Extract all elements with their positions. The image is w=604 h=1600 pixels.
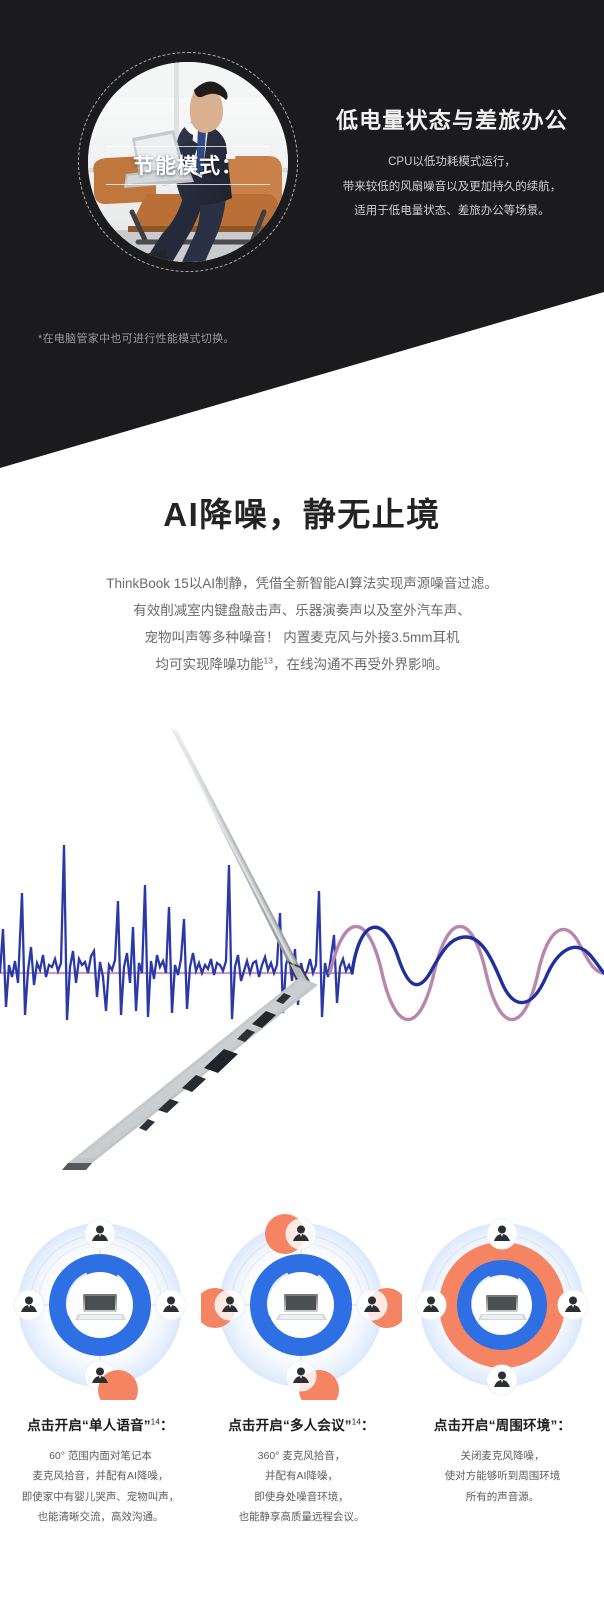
- power-saving-photo: 节能模式：: [88, 62, 288, 262]
- heading-colon: ：: [361, 1418, 375, 1433]
- feature-ambient-environment[interactable]: 点击开启“周围环境”： 关闭麦克风降噪， 使对方能够听到周围环境 所有的声音源。: [402, 1210, 603, 1507]
- heading-colon: ：: [557, 1418, 571, 1433]
- heading-text: 点击开启“周围环境”: [434, 1418, 558, 1433]
- hero-sub-line: CPU以低功耗模式运行，: [300, 150, 604, 174]
- feature-single-voice[interactable]: 点击开启“单人语音”14： 60° 范围内面对笔记本 麦克风拾音，并配有AI降噪…: [0, 1210, 201, 1528]
- person-node-east: [156, 1290, 186, 1320]
- ai-body-post: ，在线沟通不再受外界影响。: [273, 657, 449, 672]
- ai-body-line: 宠物叫声等多种噪音！ 内置麦克风与外接3.5mm耳机: [0, 624, 604, 651]
- heading-colon: ：: [160, 1418, 174, 1433]
- feature-desc-multi-conference: 360° 麦克风拾音， 并配有AI降噪， 即使身处噪音环境， 也能静享高质量远程…: [201, 1446, 402, 1528]
- photo-rule-top: [106, 146, 270, 147]
- footnote-marker-14: 14: [151, 1418, 160, 1427]
- hero-footnote: *在电脑管家中也可进行性能模式切换。: [38, 330, 235, 346]
- feature-multi-conference[interactable]: 点击开启“多人会议”14： 360° 麦克风拾音， 并配有AI降噪， 即使身处噪…: [201, 1210, 402, 1528]
- ai-section-title: AI降噪，静无止境: [0, 470, 604, 536]
- microphone-modes-section: 点击开启“单人语音”14： 60° 范围内面对笔记本 麦克风拾音，并配有AI降噪…: [0, 1210, 604, 1600]
- person-node-east: [357, 1290, 387, 1320]
- businessman-photo: 节能模式：: [88, 62, 288, 262]
- ai-body-line: ThinkBook 15以AI制静，凭借全新智能AI算法实现声源噪音过滤。: [0, 570, 604, 597]
- feature-heading-ambient-environment: 点击开启“周围环境”：: [402, 1414, 603, 1434]
- desc-line: 并配有AI降噪，: [201, 1466, 402, 1486]
- person-node-south: [286, 1361, 316, 1391]
- ai-noise-reduction-section: AI降噪，静无止境 ThinkBook 15以AI制静，凭借全新智能AI算法实现…: [0, 470, 604, 678]
- desc-line: 所有的声音源。: [402, 1487, 603, 1507]
- smooth-blue-wave: [352, 927, 604, 1002]
- person-node-west: [215, 1290, 245, 1320]
- diagram-ambient-environment: [402, 1210, 603, 1400]
- desc-line: 即使身处噪音环境，: [201, 1487, 402, 1507]
- ambient-environment-diagram-svg: [402, 1210, 603, 1400]
- hero-copy: 低电量状态与差旅办公 CPU以低功耗模式运行， 带来较低的风扇噪音以及更加持久的…: [300, 108, 604, 223]
- diagram-multi-conference: [201, 1210, 402, 1400]
- waveform-illustration: [0, 715, 604, 1185]
- desc-line: 也能静享高质量远程会议。: [201, 1507, 402, 1527]
- ai-body-pre: 均可实现降噪功能: [156, 657, 264, 672]
- ai-section-body: ThinkBook 15以AI制静，凭借全新智能AI算法实现声源噪音过滤。 有效…: [0, 570, 604, 678]
- hero-sub-line: 带来较低的风扇噪音以及更加持久的续航，: [300, 175, 604, 199]
- person-node-north: [487, 1219, 517, 1249]
- desc-line: 也能清晰交流，高效沟通。: [0, 1507, 201, 1527]
- person-node-east: [558, 1290, 588, 1320]
- footnote-marker-14: 14: [352, 1418, 361, 1427]
- diagram-single-voice: [0, 1210, 201, 1400]
- person-node-west: [14, 1290, 44, 1320]
- desc-line: 关闭麦克风降噪，: [402, 1446, 603, 1466]
- person-node-north: [85, 1219, 115, 1249]
- desc-line: 60° 范围内面对笔记本: [0, 1446, 201, 1466]
- waveform-laptop-stage: [0, 715, 604, 1185]
- feature-heading-single-voice: 点击开启“单人语音”14：: [0, 1414, 201, 1434]
- feature-desc-ambient-environment: 关闭麦克风降噪， 使对方能够听到周围环境 所有的声音源。: [402, 1446, 603, 1507]
- heading-text: 点击开启“单人语音”: [27, 1418, 151, 1433]
- desc-line: 使对方能够听到周围环境: [402, 1466, 603, 1486]
- person-node-north: [286, 1219, 316, 1249]
- multi-conference-diagram-svg: [201, 1210, 402, 1400]
- ai-body-line-footnoted: 均可实现降噪功能13，在线沟通不再受外界影响。: [0, 651, 604, 678]
- hero-panel: 节能模式： 低电量状态与差旅办公 CPU以低功耗模式运行， 带来较低的风扇噪音以…: [0, 0, 604, 470]
- power-saving-mode-label: 节能模式：: [88, 150, 288, 180]
- feature-heading-multi-conference: 点击开启“多人会议”14：: [201, 1414, 402, 1434]
- heading-text: 点击开启“多人会议”: [228, 1418, 352, 1433]
- smooth-pink-wave: [330, 927, 604, 1020]
- hero-sub-line: 适用于低电量状态、差旅办公等场景。: [300, 199, 604, 223]
- hero-title: 低电量状态与差旅办公: [300, 108, 604, 134]
- footnote-marker-13: 13: [264, 656, 273, 666]
- single-voice-diagram-svg: [0, 1210, 201, 1400]
- hero-subtitle: CPU以低功耗模式运行， 带来较低的风扇噪音以及更加持久的续航， 适用于低电量状…: [300, 150, 604, 222]
- ai-body-line: 有效削减室内键盘敲击声、乐器演奏声以及室外汽车声、: [0, 597, 604, 624]
- desc-line: 即使家中有婴儿哭声、宠物叫声，: [0, 1487, 201, 1507]
- desc-line: 麦克风拾音，并配有AI降噪，: [0, 1466, 201, 1486]
- person-node-west: [416, 1290, 446, 1320]
- photo-rule-bottom: [106, 184, 270, 185]
- person-node-south: [487, 1365, 517, 1395]
- desc-line: 360° 麦克风拾音，: [201, 1446, 402, 1466]
- feature-desc-single-voice: 60° 范围内面对笔记本 麦克风拾音，并配有AI降噪， 即使家中有婴儿哭声、宠物…: [0, 1446, 201, 1528]
- laptop-side-profile: [62, 727, 318, 1170]
